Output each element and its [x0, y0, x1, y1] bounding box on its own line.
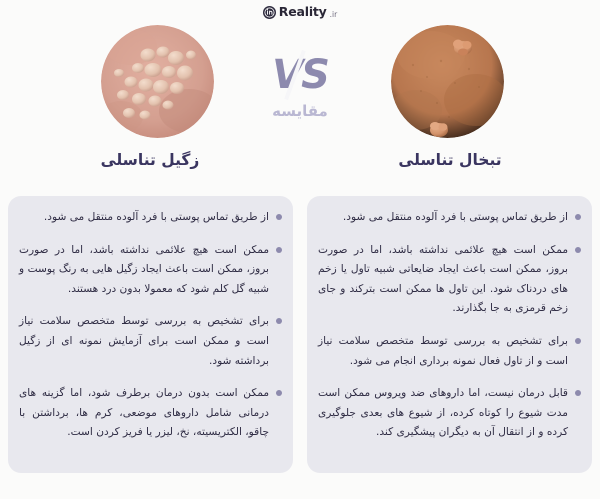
card-warts: از طریق تماس پوستی با فرد آلوده منتقل می… — [8, 196, 293, 473]
bullet-dot-icon — [575, 214, 581, 220]
column-heading-warts: زگیل تناسلی — [0, 150, 300, 170]
bullet-dot-icon — [276, 318, 282, 324]
bullet-dot-icon — [575, 338, 581, 344]
bullet-text: از طریق تماس پوستی با فرد آلوده منتقل می… — [318, 208, 568, 228]
bullet-dot-icon — [575, 247, 581, 253]
list-item: از طریق تماس پوستی با فرد آلوده منتقل می… — [19, 208, 282, 228]
bullet-list-warts: از طریق تماس پوستی با فرد آلوده منتقل می… — [19, 208, 282, 443]
bullet-text: برای تشخیص به بررسی توسط متخصص سلامت نیا… — [318, 332, 568, 371]
list-item: برای تشخیص به بررسی توسط متخصص سلامت نیا… — [318, 332, 581, 371]
column-heading-herpes: تبخال تناسلی — [300, 150, 600, 170]
list-item: ممکن است بدون درمان برطرف شود، اما گزینه… — [19, 384, 282, 443]
reality-circle-logo-icon — [263, 6, 276, 19]
bullet-list-herpes: از طریق تماس پوستی با فرد آلوده منتقل می… — [318, 208, 581, 443]
brand-name: Reality — [279, 6, 327, 19]
versus-label: مقایسه — [272, 103, 328, 120]
bullet-dot-icon — [276, 247, 282, 253]
column-headings: تبخال تناسلی زگیل تناسلی — [0, 150, 600, 170]
brand-tld: .ir — [330, 11, 338, 19]
brand-logo: Reality .ir — [0, 6, 600, 19]
list-item: ممکن است هیچ علائمی نداشته باشد، اما در … — [318, 241, 581, 319]
comparison-cards: از طریق تماس پوستی با فرد آلوده منتقل می… — [8, 196, 592, 473]
versus-glyph-icon: VS — [268, 52, 332, 98]
bullet-dot-icon — [276, 214, 282, 220]
bullet-text: ممکن است هیچ علائمی نداشته باشد، اما در … — [318, 241, 568, 319]
versus-block: VS مقایسه — [0, 52, 600, 120]
bullet-text: قابل درمان نیست، اما داروهای ضد ویروس مم… — [318, 384, 568, 443]
bullet-dot-icon — [575, 390, 581, 396]
bullet-text: ممکن است بدون درمان برطرف شود، اما گزینه… — [19, 384, 269, 443]
bullet-text: برای تشخیص به بررسی توسط متخصص سلامت نیا… — [19, 312, 269, 371]
list-item: قابل درمان نیست، اما داروهای ضد ویروس مم… — [318, 384, 581, 443]
list-item: برای تشخیص به بررسی توسط متخصص سلامت نیا… — [19, 312, 282, 371]
bullet-text: از طریق تماس پوستی با فرد آلوده منتقل می… — [19, 208, 269, 228]
list-item: از طریق تماس پوستی با فرد آلوده منتقل می… — [318, 208, 581, 228]
card-herpes: از طریق تماس پوستی با فرد آلوده منتقل می… — [307, 196, 592, 473]
bullet-text: ممکن است هیچ علائمی نداشته باشد، اما در … — [19, 241, 269, 300]
bullet-dot-icon — [276, 390, 282, 396]
list-item: ممکن است هیچ علائمی نداشته باشد، اما در … — [19, 241, 282, 300]
